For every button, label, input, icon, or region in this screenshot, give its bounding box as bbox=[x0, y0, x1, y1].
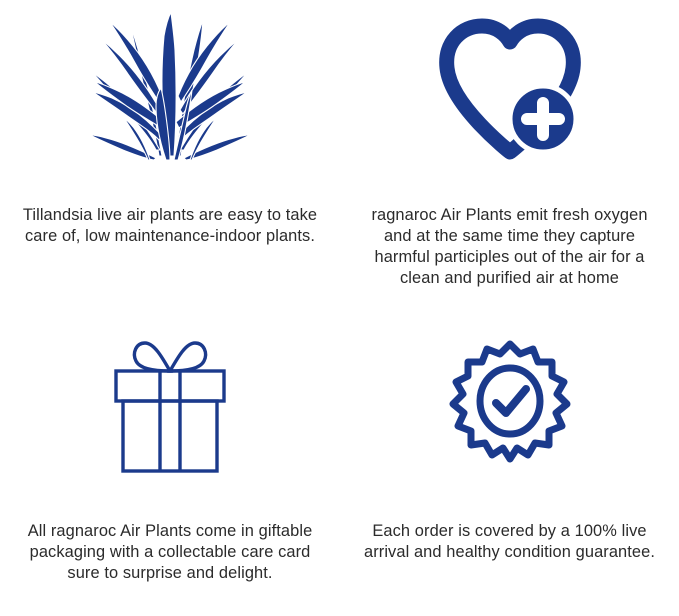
checkmark-icon bbox=[496, 389, 526, 413]
feature-cell-guarantee: Each order is covered by a 100% live arr… bbox=[340, 308, 679, 616]
feature-grid: Tillandsia live air plants are easy to t… bbox=[0, 0, 679, 616]
bow-right-loop bbox=[170, 343, 206, 371]
bow-left-loop bbox=[134, 343, 170, 371]
gift-body bbox=[123, 401, 217, 471]
gift-ribbon bbox=[160, 371, 180, 471]
feature-cell-gift-packaging: All ragnaroc Air Plants come in giftable… bbox=[0, 308, 340, 616]
feature-cell-air-plant: Tillandsia live air plants are easy to t… bbox=[0, 0, 340, 308]
air-plant-icon bbox=[0, 0, 340, 160]
feature-caption: All ragnaroc Air Plants come in giftable… bbox=[2, 521, 338, 584]
badge-inner-circle bbox=[480, 368, 540, 434]
feature-cell-air-quality: ragnaroc Air Plants emit fresh oxygen an… bbox=[340, 0, 679, 308]
feature-caption: ragnaroc Air Plants emit fresh oxygen an… bbox=[342, 205, 678, 289]
verified-badge-icon bbox=[340, 308, 679, 473]
gift-box-icon bbox=[0, 308, 340, 473]
gift-lid bbox=[116, 371, 224, 401]
badge-rosette bbox=[453, 344, 567, 459]
feature-caption: Tillandsia live air plants are easy to t… bbox=[2, 205, 338, 247]
heart-plus-icon bbox=[340, 0, 679, 160]
feature-caption: Each order is covered by a 100% live arr… bbox=[342, 521, 678, 563]
